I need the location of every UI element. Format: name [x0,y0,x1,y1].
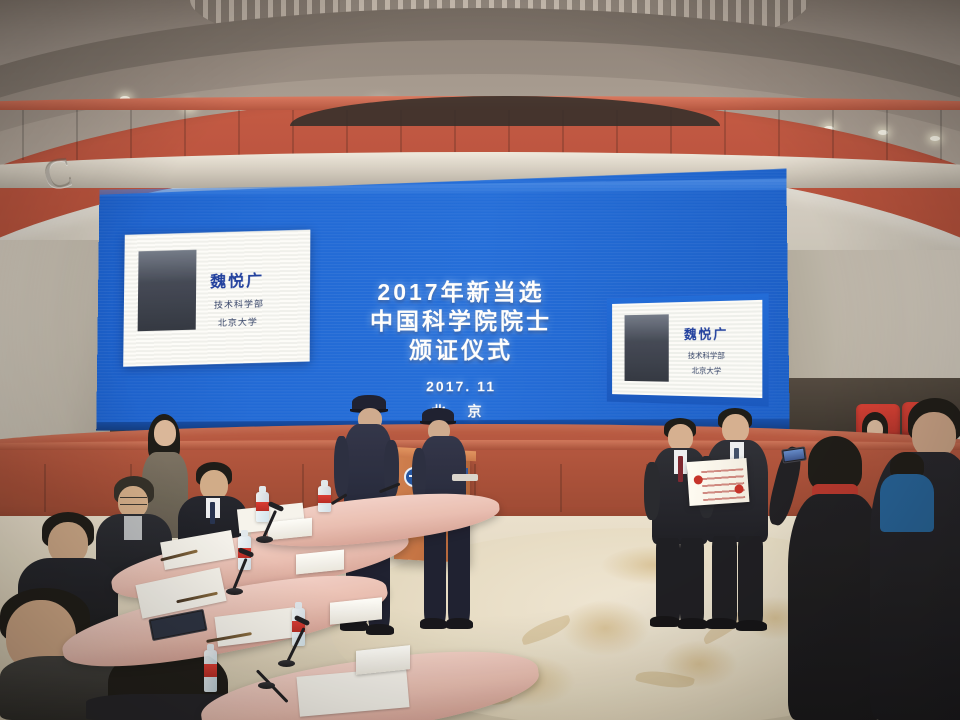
laureate-division: 技术科学部 [688,350,725,361]
shoe [446,618,473,629]
laureate-division: 技术科学部 [214,297,264,311]
title-line-3: 颁证仪式 [336,336,587,365]
water-bottle [256,492,269,522]
laureate-affiliation: 北京大学 [218,315,258,329]
necktie [210,502,215,524]
necktie [678,456,683,482]
laureate-portrait-photo [138,250,197,332]
laureate-card-main: 魏悦广 技术科学部 北京大学 [123,230,310,367]
leg [680,538,704,624]
title-line-1: 2017年新当选 [336,278,586,307]
desk-microphone-base [226,588,243,595]
laureate-name: 魏悦广 [210,267,264,292]
arm [334,436,349,498]
arm [644,462,660,520]
shoe [650,616,680,627]
blue-jacket [880,474,934,532]
leg [712,536,737,626]
desk-microphone-base [258,682,275,689]
shoe [366,624,394,635]
title-line-2: 中国科学院院士 [336,307,586,336]
eyeglasses-icon [120,497,147,505]
laureate-name: 魏悦广 [684,323,728,343]
shoe [678,618,708,629]
shoe [706,618,737,629]
ceremony-date: 2017. 11 [336,378,587,394]
water-bottle [204,650,217,692]
side-led-screen: 魏悦广 技术科学部 北京大学 [607,293,769,406]
water-bottle [318,486,331,512]
laureate-card-side: 魏悦广 技术科学部 北京大学 [612,300,762,398]
laureate-portrait-photo [625,314,669,381]
shoe [736,620,767,631]
award-certificate [687,458,750,506]
laureate-affiliation: 北京大学 [692,365,722,376]
desk-microphone-base [256,536,273,543]
phone-screen [783,449,804,462]
leg [656,538,680,624]
photo-scene: C ACADEMY OF SCIENCES C 魏悦广 技术科学部 北京大学 2… [0,0,960,720]
desk-microphone-base [278,660,295,667]
uniform-belt [452,474,478,481]
head [154,420,176,446]
shoe [420,618,447,629]
head [722,414,749,443]
dress-shirt [124,516,142,540]
head [668,424,693,451]
leg [738,536,763,626]
